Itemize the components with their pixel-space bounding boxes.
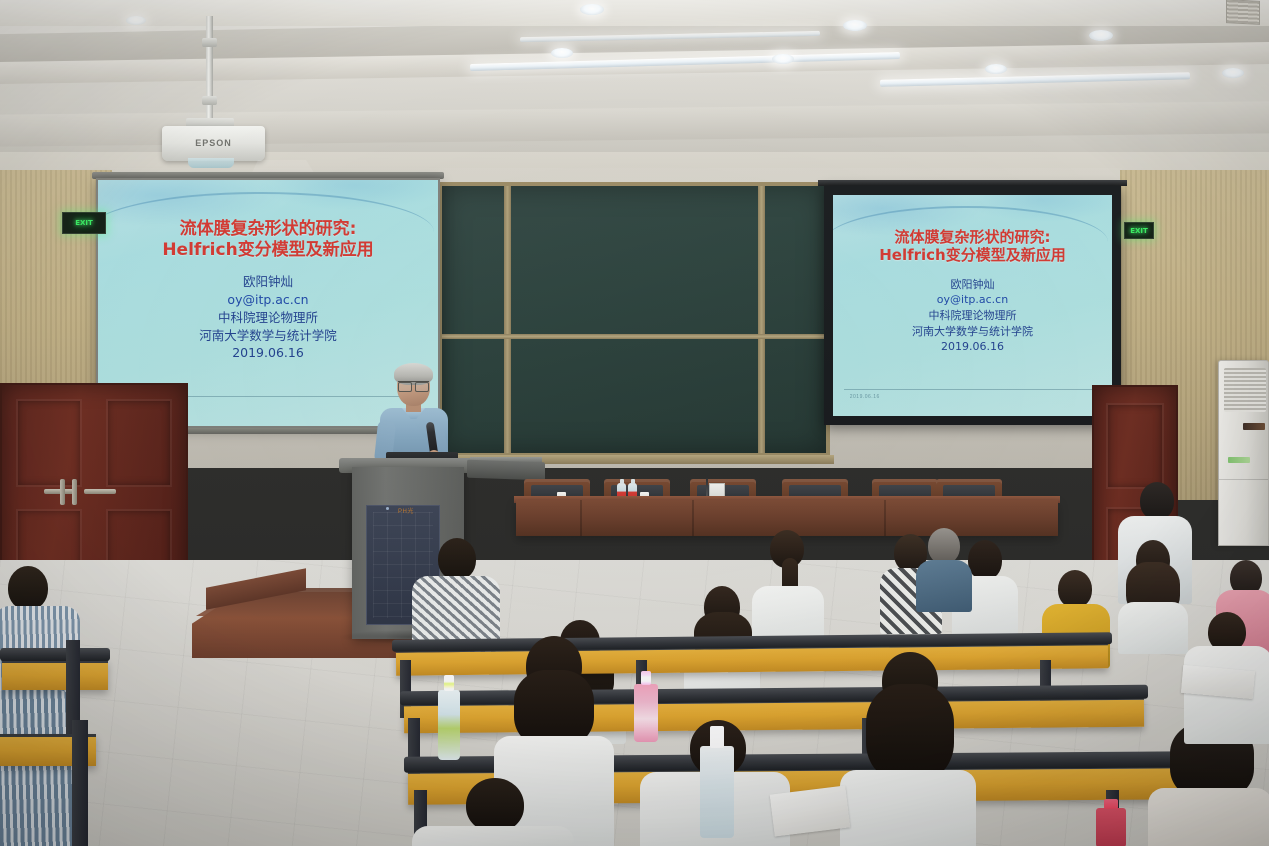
slide-date-side: 2019.06.16 <box>833 339 1112 355</box>
person-torso <box>840 770 976 846</box>
lectern-brand-label: PH光 <box>398 506 414 515</box>
person-torso <box>0 690 74 846</box>
audience-person-right-yellow-shirt <box>1118 540 1188 650</box>
person-head <box>466 778 524 832</box>
air-conditioner-logo <box>1228 457 1250 463</box>
slide-speaker-name: 欧阳钟灿 <box>98 273 438 291</box>
audience-person-gray-hair <box>916 528 972 610</box>
ceiling-air-vent <box>1226 0 1260 25</box>
slide-speaker-name-side: 欧阳钟灿 <box>833 277 1112 293</box>
downlight-3 <box>1089 30 1113 41</box>
slide-title-main: 流体膜复杂形状的研究: Helfrich变分模型及新应用 <box>98 219 438 260</box>
side-projection-screen: 流体膜复杂形状的研究: Helfrich变分模型及新应用 欧阳钟灿 oy@itp… <box>824 186 1121 425</box>
front-table-seam-2 <box>692 500 694 536</box>
projector-pole-joint-upper <box>202 38 217 47</box>
water-bottle-3 <box>700 746 734 838</box>
person-head <box>438 538 476 580</box>
slide-side: 流体膜复杂形状的研究: Helfrich变分模型及新应用 欧阳钟灿 oy@itp… <box>833 195 1112 416</box>
strip-light-2 <box>880 72 1190 87</box>
projector-mount-pole <box>206 16 213 124</box>
slide-title-line1-side: 流体膜复杂形状的研究: <box>833 228 1112 246</box>
exit-sign-right: EXIT <box>1124 222 1154 239</box>
downlight-5 <box>772 54 794 64</box>
downlight-4 <box>551 48 573 58</box>
slide-affiliation-2: 河南大学数学与统计学院 <box>98 327 438 345</box>
water-bottle-2 <box>634 684 658 742</box>
person-torso <box>1118 602 1188 654</box>
door-lock-plate-right <box>72 479 77 505</box>
exit-sign-left: EXIT <box>62 212 106 234</box>
person-head <box>968 540 1002 580</box>
chalkboard <box>438 182 830 457</box>
door-lock-plate-left <box>60 479 65 505</box>
slide-footnote-side: 2019.06.16 <box>850 394 880 400</box>
slide-affiliation-1-side: 中科院理论物理所 <box>833 308 1112 324</box>
projector-pole-joint-lower <box>202 96 217 105</box>
slide-affiliation-2-side: 河南大学数学与统计学院 <box>833 324 1112 340</box>
slide-title-line2-side: Helfrich变分模型及新应用 <box>833 246 1112 264</box>
projector-lens <box>188 158 234 168</box>
downlight-8 <box>126 16 146 25</box>
lecture-hall-photo: EPSON 流体膜复杂形状的研究: Helfrich变分模型及新应用 欧阳钟灿 … <box>0 0 1269 846</box>
chalkboard-divider-right <box>758 186 765 453</box>
person-hair <box>866 684 954 782</box>
audience-person-front-right-long-hair <box>840 652 976 846</box>
slide-body-main: 欧阳钟灿 oy@itp.ac.cn 中科院理论物理所 河南大学数学与统计学院 2… <box>98 273 438 362</box>
slide-title-latin-side: Helfrich <box>879 246 946 264</box>
speaker-glasses-icon <box>398 381 429 389</box>
water-bottle-4 <box>1096 808 1126 846</box>
door-panel-tl <box>16 399 82 487</box>
downlight-7 <box>1222 68 1244 78</box>
ceiling-soffit-front <box>0 0 1269 26</box>
air-conditioner[interactable] <box>1218 360 1269 546</box>
slide-body-side: 欧阳钟灿 oy@itp.ac.cn 中科院理论物理所 河南大学数学与统计学院 2… <box>833 277 1112 355</box>
air-conditioner-display <box>1243 423 1265 430</box>
slide-email: oy@itp.ac.cn <box>98 291 438 309</box>
person-torso <box>412 826 574 846</box>
door-handle-right[interactable] <box>84 489 116 494</box>
person-torso <box>916 560 972 612</box>
downlight-2 <box>843 20 867 31</box>
water-bottle-1 <box>438 690 460 760</box>
desk-rail-left-near <box>0 648 110 661</box>
person-torso <box>1148 788 1269 846</box>
slide-title-cjk: 变分模型及新应用 <box>238 240 374 260</box>
desk-leg-left-2 <box>72 720 88 846</box>
person-head <box>8 566 48 610</box>
slide-title-cjk-side: 变分模型及新应用 <box>946 246 1066 264</box>
slide-title-line2: Helfrich变分模型及新应用 <box>98 240 438 261</box>
slide-title-side: 流体膜复杂形状的研究: Helfrich变分模型及新应用 <box>833 228 1112 265</box>
person-head <box>1140 482 1174 520</box>
air-conditioner-grille-icon <box>1224 368 1266 412</box>
front-table-seam-3 <box>884 500 886 536</box>
slide-email-side: oy@itp.ac.cn <box>833 292 1112 308</box>
air-conditioner-seam <box>1219 479 1268 480</box>
slide-title-line1: 流体膜复杂形状的研究: <box>98 219 438 240</box>
downlight-1 <box>580 4 604 15</box>
person-head <box>928 528 960 564</box>
lectern-power-led <box>386 507 389 510</box>
exit-sign-icon-left: EXIT <box>75 219 93 227</box>
audience-person-front-left-bottom <box>412 778 574 846</box>
audience-person-left-blue-2 <box>0 690 74 846</box>
audience-person-striped-shirt <box>412 538 500 650</box>
chalkboard-divider-horizontal <box>442 334 826 339</box>
chalkboard-divider-left <box>504 186 511 453</box>
slide-affiliation-1: 中科院理论物理所 <box>98 309 438 327</box>
projector: EPSON <box>162 126 265 161</box>
front-table-seam-1 <box>580 500 582 536</box>
slide-footer-rule-side <box>844 389 1101 390</box>
slide-title-latin: Helfrich <box>162 240 237 260</box>
door-panel-tr <box>106 399 172 487</box>
person-head <box>1058 570 1092 608</box>
downlight-6 <box>985 64 1007 74</box>
desk-row-left-near <box>2 660 108 690</box>
side-console <box>467 460 545 481</box>
projector-brand-label: EPSON <box>162 138 265 148</box>
door-right-panel-top <box>1106 403 1164 489</box>
exit-sign-icon-right: EXIT <box>1130 227 1148 235</box>
slide-date: 2019.06.16 <box>98 344 438 362</box>
audience-person-ponytail-left <box>752 530 824 642</box>
